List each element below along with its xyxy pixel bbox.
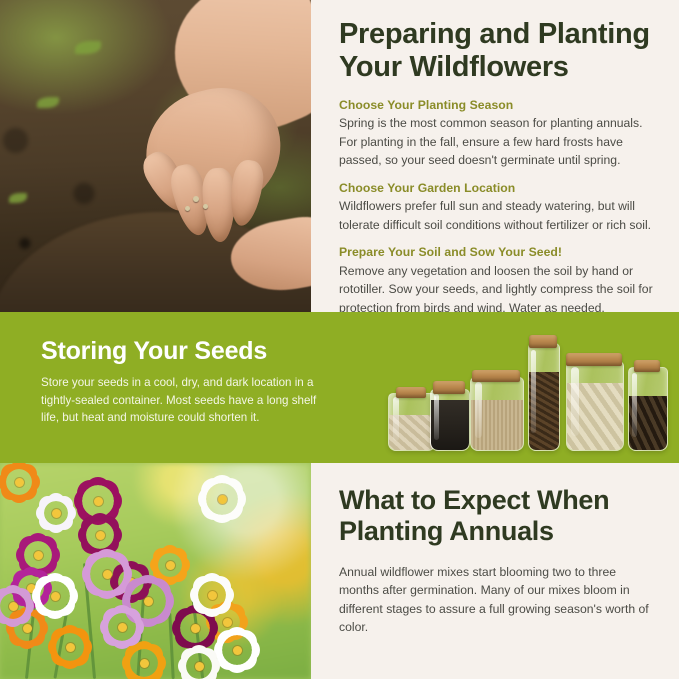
flower-orange (14, 615, 40, 641)
flower-center (52, 509, 61, 518)
jar-gloss (632, 373, 637, 437)
cork-stopper (634, 360, 660, 372)
section-body: Spring is the most common season for pla… (339, 114, 657, 170)
flower-center (208, 591, 217, 600)
section-body: Wildflowers prefer full sun and steady w… (339, 197, 657, 234)
flower-center (34, 551, 43, 560)
flower-center (27, 584, 36, 593)
flower-center (118, 623, 127, 632)
section-subhead: Choose Your Garden Location (339, 181, 657, 196)
flower-magenta (24, 541, 52, 569)
storing-seeds-text-block: Storing Your Seeds Store your seeds in a… (41, 337, 331, 427)
preparing-planting-heading: Preparing and Planting Your Wildflowers (339, 18, 657, 84)
jar-gloss (393, 397, 399, 441)
preparing-planting-panel: Preparing and Planting Your Wildflowers … (311, 0, 679, 312)
jar-tan-seeds (470, 377, 524, 451)
cork-stopper (472, 370, 520, 382)
flower-white (222, 635, 252, 665)
jar-sunflower-seeds (628, 367, 668, 451)
flower-orange (158, 553, 182, 577)
flower-white (40, 581, 70, 611)
flower-center (166, 561, 175, 570)
seed (193, 196, 199, 202)
section-subhead: Prepare Your Soil and Sow Your Seed! (339, 245, 657, 260)
storing-seeds-heading: Storing Your Seeds (41, 337, 331, 365)
flower-center (9, 602, 18, 611)
flower-center (66, 643, 75, 652)
flower-center (144, 597, 153, 606)
cork-stopper (566, 353, 622, 366)
section-garden-location: Choose Your Garden Location Wildflowers … (339, 181, 657, 234)
cork-stopper (396, 387, 426, 398)
flower-lilac (130, 583, 166, 619)
flower-center (218, 495, 227, 504)
jar-gloss (475, 382, 482, 438)
soil-photo (0, 0, 311, 312)
flower-white (198, 581, 226, 609)
seed (185, 206, 190, 211)
flower-center (140, 659, 149, 668)
flower-center (15, 478, 24, 487)
flower-lilac (90, 557, 124, 591)
section-planting-season: Choose Your Planting Season Spring is th… (339, 98, 657, 170)
what-to-expect-heading: What to Expect When Planting Annuals (339, 485, 649, 548)
flower-center (96, 531, 105, 540)
wildflowers-photo (0, 463, 311, 679)
jar-pumpkin-seeds (566, 361, 624, 451)
jar-gloss (434, 394, 439, 441)
section-prepare-soil: Prepare Your Soil and Sow Your Seed! Rem… (339, 245, 657, 317)
flower-white (44, 501, 68, 525)
flower-center (127, 578, 136, 587)
flower-center (233, 646, 242, 655)
jar-gloss (571, 367, 579, 436)
jar-tall-dark-seeds (528, 343, 560, 451)
flower-center (191, 624, 200, 633)
cork-stopper (529, 335, 557, 348)
storing-seeds-body: Store your seeds in a cool, dry, and dar… (41, 374, 331, 427)
storing-seeds-band: Storing Your Seeds Store your seeds in a… (0, 312, 679, 463)
flower-lilac (108, 613, 136, 641)
flower-white (186, 653, 212, 679)
what-to-expect-body: Annual wildflower mixes start blooming t… (339, 563, 649, 637)
flower-orange (6, 469, 32, 495)
jar-gloss (531, 350, 535, 433)
flower-center (195, 662, 204, 671)
section-body: Remove any vegetation and loosen the soi… (339, 262, 657, 318)
flower-magenta (82, 485, 114, 517)
jar-white-beans (388, 393, 436, 451)
jar-black-seeds (430, 389, 470, 451)
seed-jars-photo (388, 329, 664, 451)
flower-magenta (86, 521, 114, 549)
flower-orange (130, 649, 158, 677)
what-to-expect-panel: What to Expect When Planting Annuals Ann… (311, 463, 679, 679)
seed (203, 204, 208, 209)
hand-holding-seeds (117, 0, 311, 250)
flower-center (223, 618, 232, 627)
infographic-root: Preparing and Planting Your Wildflowers … (0, 0, 679, 679)
flower-magenta (180, 613, 210, 643)
flower-center (94, 497, 103, 506)
flower-center (51, 592, 60, 601)
flower-center (103, 570, 112, 579)
flower-center (23, 624, 32, 633)
flower-orange (56, 633, 84, 661)
section-subhead: Choose Your Planting Season (339, 98, 657, 113)
cork-stopper (433, 381, 465, 394)
flower-lilac (0, 593, 26, 619)
flower-orange (214, 609, 240, 635)
flower-white (206, 483, 238, 515)
meadow-background (0, 463, 311, 679)
